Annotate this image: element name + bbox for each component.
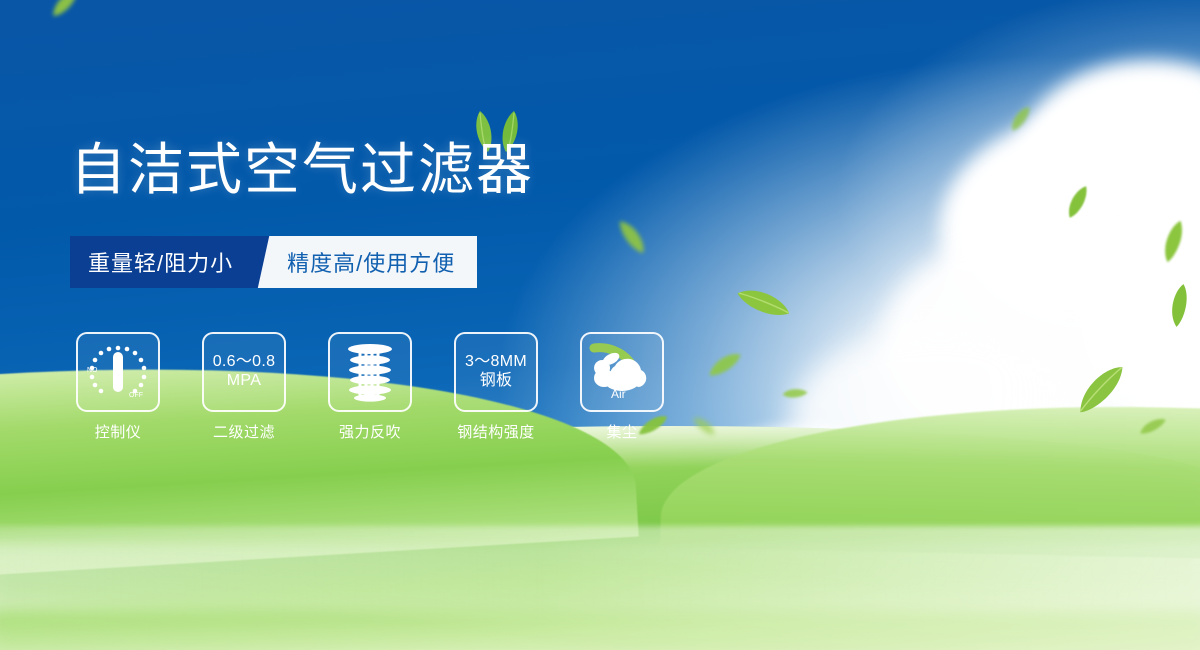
filter-coil-icon	[342, 341, 398, 403]
floating-leaf-icon	[1162, 282, 1197, 330]
feature-item-steel-plate[interactable]: 3～8MM 钢板 钢结构强度	[454, 332, 538, 442]
floating-leaf-icon	[704, 351, 746, 380]
feature-icon-box: Air	[580, 332, 664, 412]
floating-leaf-icon	[1154, 218, 1193, 265]
dial-no-label: NO	[87, 367, 98, 374]
floating-leaf-icon	[733, 276, 793, 331]
feature-icon-box: 3～8MM 钢板	[454, 332, 538, 412]
steel-thickness: 3～8MM	[465, 353, 527, 370]
floating-leaf-icon	[617, 215, 648, 259]
pressure-text-icon: 0.6～0.8 MPA	[213, 353, 276, 391]
floating-leaf-icon	[46, 0, 84, 19]
feature-item-dust-collect[interactable]: Air 集尘	[580, 332, 664, 442]
feature-icon-box: NO OFF	[76, 332, 160, 412]
feature-icon-box: 0.6～0.8 MPA	[202, 332, 286, 412]
floating-leaf-icon	[1060, 183, 1097, 220]
air-label: Air	[611, 387, 626, 401]
feature-label: 强力反吹	[339, 421, 401, 442]
steel-plate-text-icon: 3～8MM 钢板	[465, 353, 527, 391]
cloud-shape	[940, 110, 1200, 350]
cloud-air-icon: Air	[588, 342, 656, 402]
pressure-unit: MPA	[213, 372, 276, 391]
feature-item-pressure[interactable]: 0.6～0.8 MPA 二级过滤	[202, 332, 286, 442]
feature-icon-box	[328, 332, 412, 412]
grass-path	[0, 526, 1200, 650]
page-title: 自洁式空气过滤器	[70, 142, 534, 198]
cloud-shape	[1080, 190, 1200, 440]
floating-leaf-icon	[781, 385, 809, 402]
floating-leaf-icon	[1005, 104, 1037, 134]
feature-item-control-dial[interactable]: NO OFF 控制仪	[76, 332, 160, 442]
feature-item-backblow[interactable]: 强力反吹	[328, 332, 412, 442]
feature-label: 集尘	[606, 421, 637, 442]
product-banner: 自洁式空气过滤器 重量轻/阻力小 精度高/使用方便	[0, 0, 1200, 650]
feature-label: 控制仪	[95, 421, 142, 442]
grass-field	[0, 426, 1200, 650]
feature-list: NO OFF 控制仪 0.6～0.8 MPA 二级过滤	[76, 332, 664, 442]
pressure-value: 0.6～0.8	[213, 353, 276, 370]
subtitle-bar: 重量轻/阻力小 精度高/使用方便	[70, 236, 477, 288]
feature-label: 二级过滤	[213, 421, 275, 442]
steel-material: 钢板	[465, 372, 527, 391]
subtitle-left: 重量轻/阻力小	[70, 236, 253, 288]
dial-off-label: OFF	[129, 392, 143, 399]
subtitle-right: 精度高/使用方便	[279, 236, 477, 288]
feature-label: 钢结构强度	[457, 421, 535, 442]
subtitle-divider	[253, 236, 279, 288]
dial-gauge-icon: NO OFF	[83, 340, 153, 404]
cloud-shape	[1020, 60, 1200, 250]
